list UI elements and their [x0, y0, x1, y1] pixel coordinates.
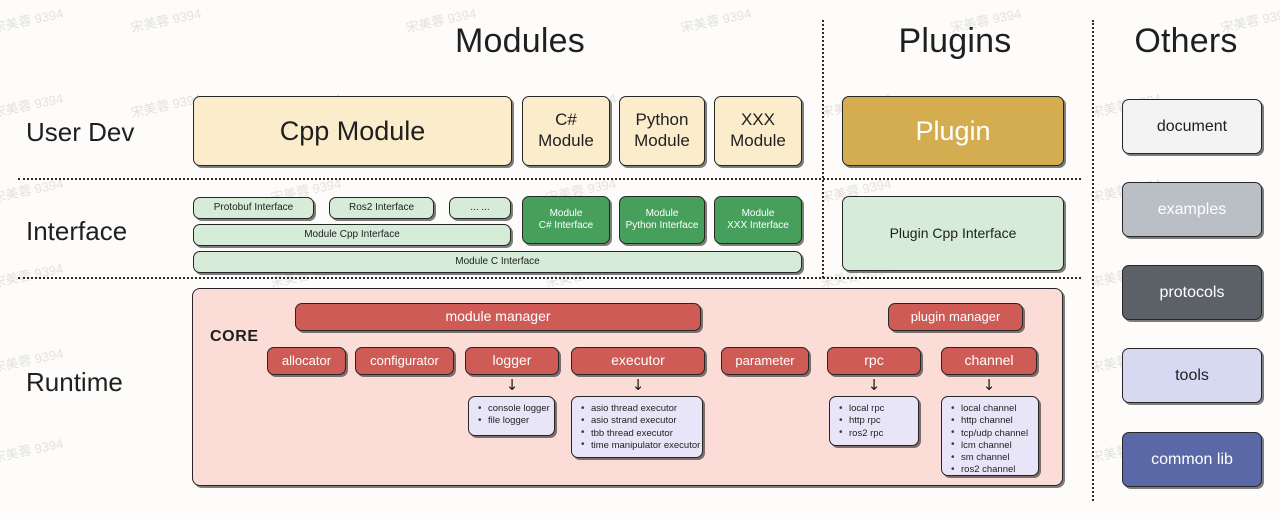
- core-block-configurator[interactable]: configurator: [355, 347, 454, 375]
- module-box-python[interactable]: Python Module: [619, 96, 705, 166]
- core-details-channel: local channel http channel tcp/udp chann…: [941, 396, 1039, 476]
- list-item: tbb thread executor: [591, 428, 694, 440]
- core-block-channel-label: channel: [964, 352, 1013, 369]
- others-box-document-label: document: [1157, 117, 1227, 137]
- others-box-protocols[interactable]: protocols: [1122, 265, 1262, 320]
- core-details-channel-list: local channel http channel tcp/udp chann…: [948, 403, 1030, 477]
- plugin-box[interactable]: Plugin: [842, 96, 1064, 166]
- interface-box-module-xxx-label: Module XXX Interface: [727, 208, 789, 232]
- watermark: 宋美蓉 9394: [0, 433, 65, 466]
- interface-box-module-python[interactable]: Module Python Interface: [619, 196, 705, 244]
- interface-box-module-c-label: Module C Interface: [455, 256, 540, 268]
- core-block-module-manager-label: module manager: [445, 308, 550, 325]
- list-item: sm channel: [961, 452, 1030, 464]
- core-block-allocator[interactable]: allocator: [267, 347, 346, 375]
- watermark: 宋美蓉 9394: [0, 3, 65, 36]
- others-box-document[interactable]: document: [1122, 99, 1262, 154]
- watermark: 宋美蓉 9394: [129, 3, 203, 36]
- module-box-xxx[interactable]: XXX Module: [714, 96, 802, 166]
- column-title-plugins: Plugins: [830, 22, 1080, 61]
- core-block-configurator-label: configurator: [370, 353, 439, 369]
- core-details-logger-list: console logger file logger: [475, 403, 546, 428]
- list-item: asio strand executor: [591, 415, 694, 427]
- core-details-logger: console logger file logger: [468, 396, 555, 436]
- interface-box-module-xxx[interactable]: Module XXX Interface: [714, 196, 802, 244]
- module-box-python-label: Python Module: [634, 110, 690, 151]
- interface-box-protobuf-label: Protobuf Interface: [214, 202, 294, 214]
- module-box-csharp-label: C# Module: [538, 110, 594, 151]
- watermark: 宋美蓉 9394: [0, 258, 65, 291]
- interface-box-plugin-cpp-label: Plugin Cpp Interface: [890, 225, 1017, 242]
- watermark: 宋美蓉 9394: [129, 88, 203, 121]
- divider-modules-plugins: [822, 20, 824, 278]
- interface-box-plugin-cpp[interactable]: Plugin Cpp Interface: [842, 196, 1064, 271]
- core-details-executor-list: asio thread executor asio strand executo…: [578, 403, 694, 452]
- others-box-common-lib-label: common lib: [1151, 450, 1233, 470]
- list-item: local channel: [961, 403, 1030, 415]
- down-arrow-icon: ↓: [867, 378, 881, 393]
- core-block-logger-label: logger: [493, 352, 532, 369]
- interface-box-protobuf[interactable]: Protobuf Interface: [193, 197, 314, 219]
- core-block-plugin-manager[interactable]: plugin manager: [888, 303, 1023, 331]
- interface-box-module-cpp-label: Module Cpp Interface: [304, 229, 400, 241]
- core-block-executor[interactable]: executor: [571, 347, 705, 375]
- interface-box-module-python-label: Module Python Interface: [626, 208, 699, 232]
- interface-box-ros2[interactable]: Ros2 Interface: [329, 197, 434, 219]
- interface-box-module-csharp[interactable]: Module C# Interface: [522, 196, 610, 244]
- architecture-diagram: 宋美蓉 9394 宋美蓉 9394 宋美蓉 9394 宋美蓉 9394 宋美蓉 …: [0, 0, 1280, 519]
- others-box-protocols-label: protocols: [1160, 283, 1225, 303]
- list-item: time manipulator executor: [591, 440, 694, 452]
- core-block-allocator-label: allocator: [282, 353, 331, 369]
- list-item: asio thread executor: [591, 403, 694, 415]
- core-block-rpc[interactable]: rpc: [827, 347, 921, 375]
- list-item: http rpc: [849, 415, 910, 427]
- interface-box-module-c[interactable]: Module C Interface: [193, 251, 802, 273]
- core-block-parameter-label: parameter: [735, 353, 794, 369]
- core-block-module-manager[interactable]: module manager: [295, 303, 701, 331]
- list-item: console logger: [488, 403, 546, 415]
- plugin-box-label: Plugin: [915, 115, 990, 148]
- core-details-executor: asio thread executor asio strand executo…: [571, 396, 703, 458]
- core-block-parameter[interactable]: parameter: [721, 347, 809, 375]
- module-box-xxx-label: XXX Module: [730, 110, 786, 151]
- column-title-others: Others: [1100, 22, 1272, 61]
- core-details-rpc-list: local rpc http rpc ros2 rpc: [836, 403, 910, 440]
- core-block-executor-label: executor: [611, 352, 665, 369]
- column-title-modules: Modules: [330, 22, 710, 61]
- module-box-cpp[interactable]: Cpp Module: [193, 96, 512, 166]
- others-box-examples-label: examples: [1158, 200, 1226, 220]
- list-item: local rpc: [849, 403, 910, 415]
- others-box-tools-label: tools: [1175, 366, 1209, 386]
- others-box-examples[interactable]: examples: [1122, 182, 1262, 237]
- interface-box-ellipsis[interactable]: ... ...: [449, 197, 511, 219]
- divider-plugins-others: [1092, 20, 1094, 501]
- list-item: lcm channel: [961, 440, 1030, 452]
- down-arrow-icon: ↓: [631, 378, 645, 393]
- interface-box-module-csharp-label: Module C# Interface: [539, 208, 593, 232]
- core-caption: CORE: [210, 328, 259, 346]
- interface-box-ellipsis-label: ... ...: [470, 202, 489, 214]
- row-label-interface: Interface: [26, 216, 127, 247]
- core-block-channel[interactable]: channel: [941, 347, 1037, 375]
- list-item: ros2 channel: [961, 464, 1030, 476]
- row-label-runtime: Runtime: [26, 367, 123, 398]
- module-box-csharp[interactable]: C# Module: [522, 96, 610, 166]
- core-details-rpc: local rpc http rpc ros2 rpc: [829, 396, 919, 446]
- core-block-plugin-manager-label: plugin manager: [911, 309, 1001, 325]
- down-arrow-icon: ↓: [982, 378, 996, 393]
- list-item: ros2 rpc: [849, 428, 910, 440]
- others-box-common-lib[interactable]: common lib: [1122, 432, 1262, 487]
- core-block-rpc-label: rpc: [864, 352, 883, 369]
- down-arrow-icon: ↓: [505, 378, 519, 393]
- list-item: tcp/udp channel: [961, 428, 1030, 440]
- divider-interface-runtime: [18, 277, 1081, 279]
- row-label-user-dev: User Dev: [26, 117, 134, 148]
- interface-box-ros2-label: Ros2 Interface: [349, 202, 414, 214]
- interface-box-module-cpp[interactable]: Module Cpp Interface: [193, 224, 511, 246]
- list-item: http channel: [961, 415, 1030, 427]
- module-box-cpp-label: Cpp Module: [280, 115, 426, 148]
- others-box-tools[interactable]: tools: [1122, 348, 1262, 403]
- divider-userdev-interface: [18, 178, 1081, 180]
- core-block-logger[interactable]: logger: [465, 347, 559, 375]
- list-item: file logger: [488, 415, 546, 427]
